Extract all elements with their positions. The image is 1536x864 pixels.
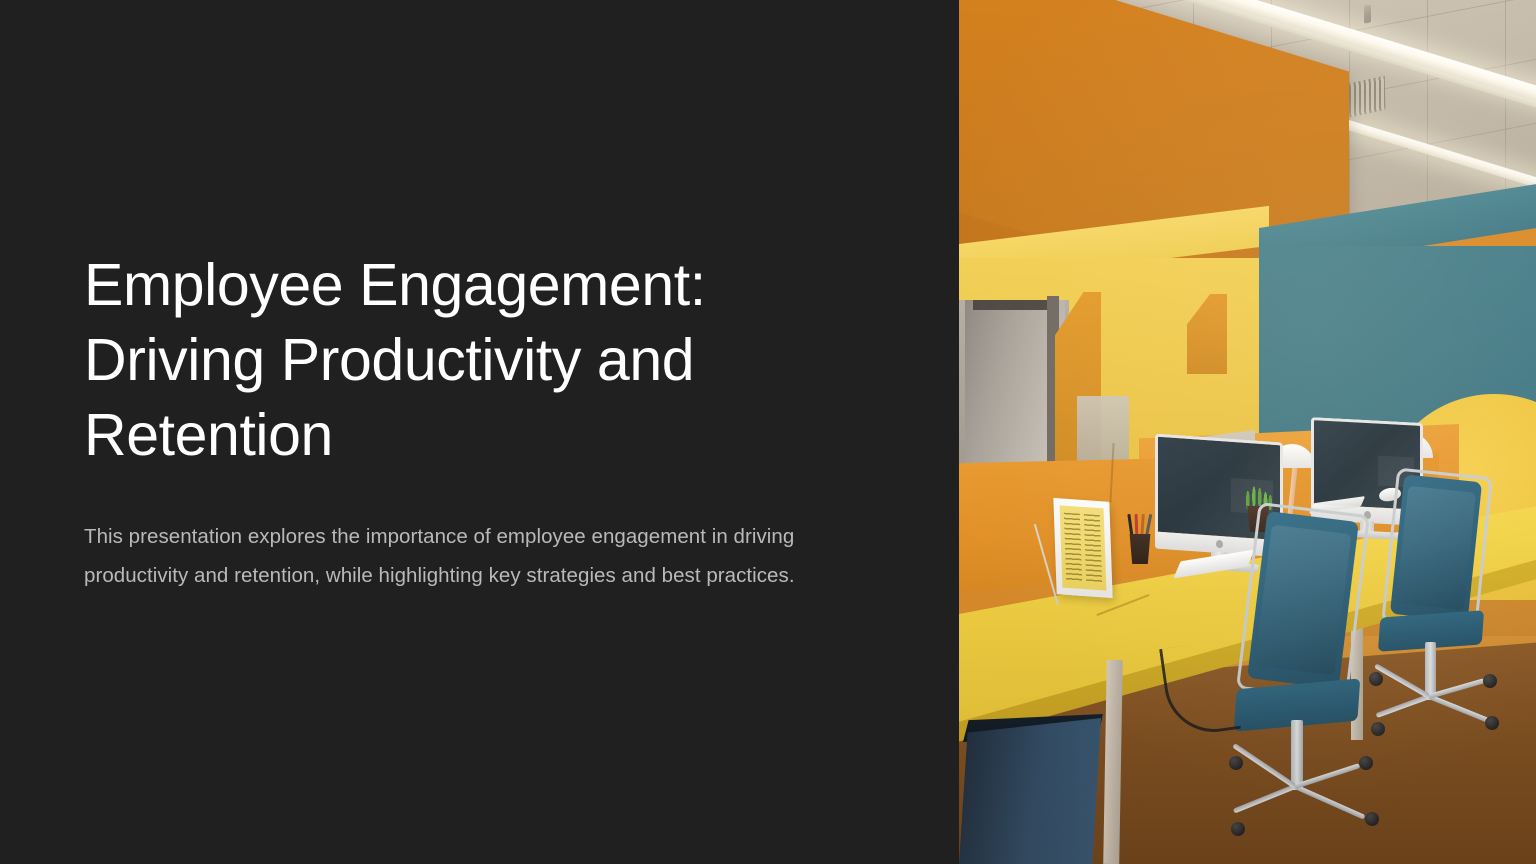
office-interior-illustration bbox=[959, 0, 1536, 864]
grey-desk-screen bbox=[1077, 396, 1129, 466]
door-header bbox=[973, 300, 1055, 310]
chair-caster bbox=[1229, 756, 1243, 770]
slide-subtitle: This presentation explores the importanc… bbox=[84, 518, 859, 595]
yellow-document bbox=[1060, 505, 1107, 590]
apple-logo-icon bbox=[1216, 540, 1223, 548]
chair-base-arm bbox=[1294, 763, 1360, 789]
chair-caster bbox=[1483, 674, 1497, 688]
title-text-panel: Employee Engagement: Driving Productivit… bbox=[0, 0, 959, 864]
chair-frame bbox=[1236, 502, 1370, 702]
blue-waste-bin bbox=[959, 718, 1101, 864]
chair-gas-column bbox=[1291, 720, 1303, 790]
chair-caster bbox=[1485, 716, 1499, 730]
chair-caster bbox=[1359, 756, 1373, 770]
chair-caster bbox=[1365, 812, 1379, 826]
chair-base-arm bbox=[1428, 678, 1485, 699]
sprinkler-head-icon bbox=[1364, 4, 1371, 23]
chair-frame bbox=[1381, 467, 1493, 632]
page-title: Employee Engagement: Driving Productivit… bbox=[84, 248, 874, 473]
picture-frame-document bbox=[1053, 498, 1112, 598]
chair-base-arm bbox=[1294, 784, 1365, 819]
office-photo bbox=[959, 0, 1536, 864]
presentation-slide: Employee Engagement: Driving Productivit… bbox=[0, 0, 1536, 864]
chair-base-arm bbox=[1428, 694, 1489, 723]
chair-caster bbox=[1231, 822, 1245, 836]
text-block: Employee Engagement: Driving Productivit… bbox=[84, 248, 874, 595]
chair-base-arm bbox=[1233, 784, 1296, 813]
blue-task-chair bbox=[1227, 516, 1397, 864]
